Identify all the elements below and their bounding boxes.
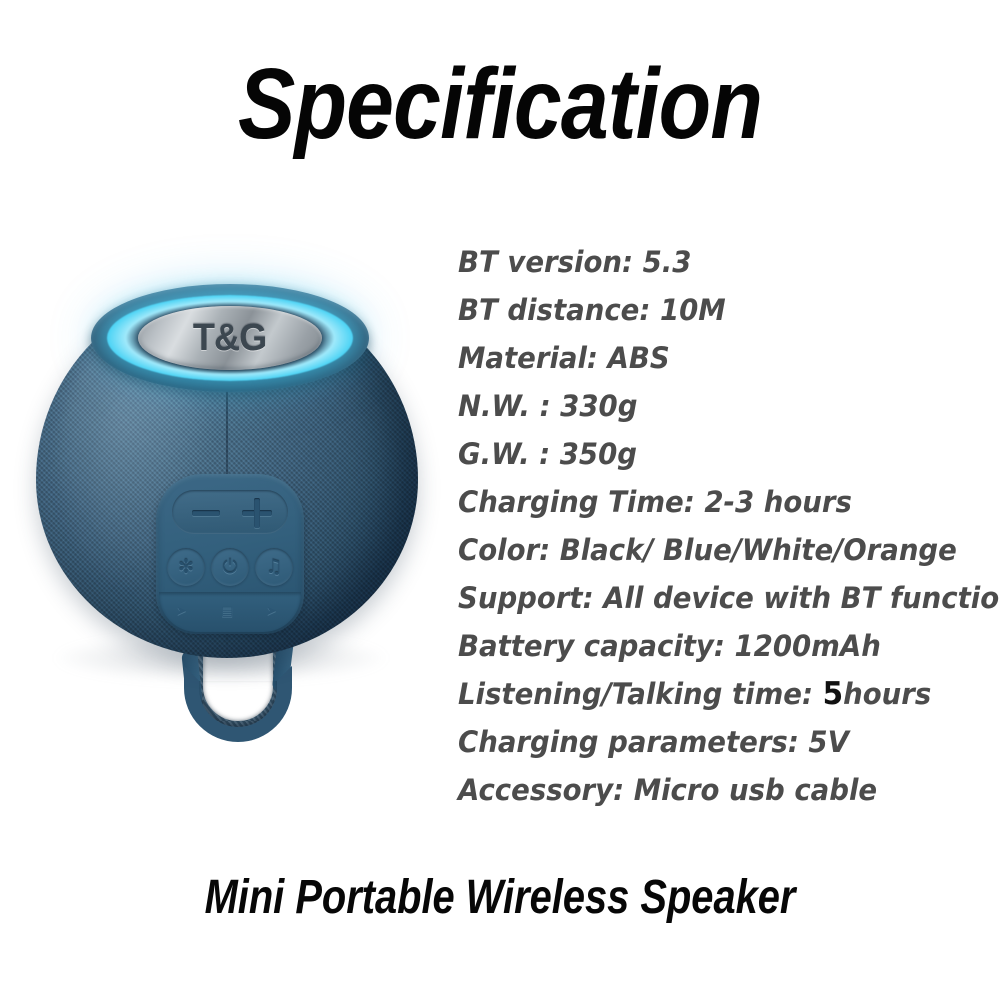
specification-list: BT version: 5.3 BT distance: 10M Materia… [458,238,1000,814]
spec-row: N.W. : 330g [458,382,976,430]
spec-row: BT version: 5.3 [458,238,976,286]
light-mode-button[interactable]: ✻ [167,548,205,586]
spec-value-suffix: hours [843,677,931,711]
spec-row-highlighted: Listening/Talking time: 5hours [458,670,976,718]
lanyard-rubber-grip [184,666,292,742]
usb-port-icon: ➤ [266,605,277,618]
power-button[interactable]: ⏻ [211,548,249,586]
music-mode-button[interactable]: ♫ [255,548,293,586]
top-bezel: T&G [91,284,369,392]
spec-row: BT distance: 10M [458,286,976,334]
port-strip: ➤ ▤ ➤ [159,592,301,632]
spec-row: Charging Time: 2-3 hours [458,478,976,526]
spec-value-highlight: 5 [823,676,843,712]
spec-row: Support: All device with BT function [458,574,976,622]
specification-page: Specification T&G [0,0,1000,1000]
spec-row: Material: ABS [458,334,976,382]
spec-row: Charging parameters: 5V [458,718,976,766]
brand-logo-text: T&G [193,317,266,360]
light-mode-icon: ✻ [167,548,205,586]
volume-down-icon[interactable] [192,510,220,516]
volume-up-icon-vertical[interactable] [254,498,260,528]
aux-port-icon: ➤ [176,605,187,618]
logo-plate: T&G [138,306,322,370]
tf-card-port-icon: ▤ [221,605,233,618]
volume-rocker[interactable] [172,490,288,534]
page-title: Specification [70,52,930,157]
music-note-icon: ♫ [255,548,293,586]
spec-row: Accessory: Micro usb cable [458,766,976,814]
spec-row: Battery capacity: 1200mAh [458,622,976,670]
control-panel: ✻ ⏻ ♫ ➤ ▤ ➤ [156,474,304,634]
spec-row: G.W. : 350g [458,430,976,478]
spec-row: Color: Black/ Blue/White/Orange [458,526,976,574]
product-image-speaker: T&G ✻ ⏻ ♫ ➤ ▤ ➤ [18,278,438,818]
spec-label: Listening/Talking time: [458,677,813,711]
power-icon: ⏻ [211,548,249,586]
product-caption: Mini Portable Wireless Speaker [85,872,915,925]
